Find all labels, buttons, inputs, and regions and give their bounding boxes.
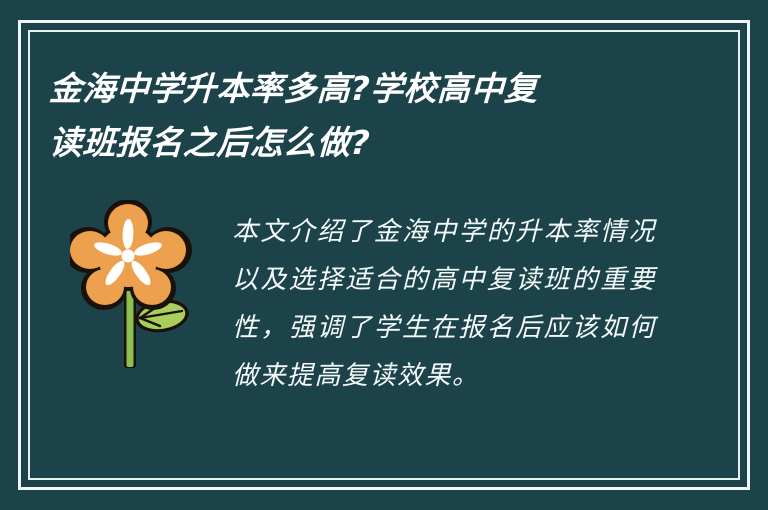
flower-icon [70, 200, 194, 372]
flower-illustration [70, 200, 194, 372]
title-line-2: 读班报名之后怎么做? [48, 116, 690, 170]
page-title: 金海中学升本率多高?学校高中复 读班报名之后怎么做? [49, 62, 689, 170]
summary-block: 本文介绍了金海中学的升本率情况以及选择适合的高中复读班的重要性，强调了学生在报名… [232, 208, 656, 400]
poster-canvas: 金海中学升本率多高?学校高中复 读班报名之后怎么做? [0, 0, 768, 510]
title-line-1: 金海中学升本率多高?学校高中复 [48, 62, 690, 116]
summary-text: 本文介绍了金海中学的升本率情况以及选择适合的高中复读班的重要性，强调了学生在报名… [232, 208, 656, 400]
